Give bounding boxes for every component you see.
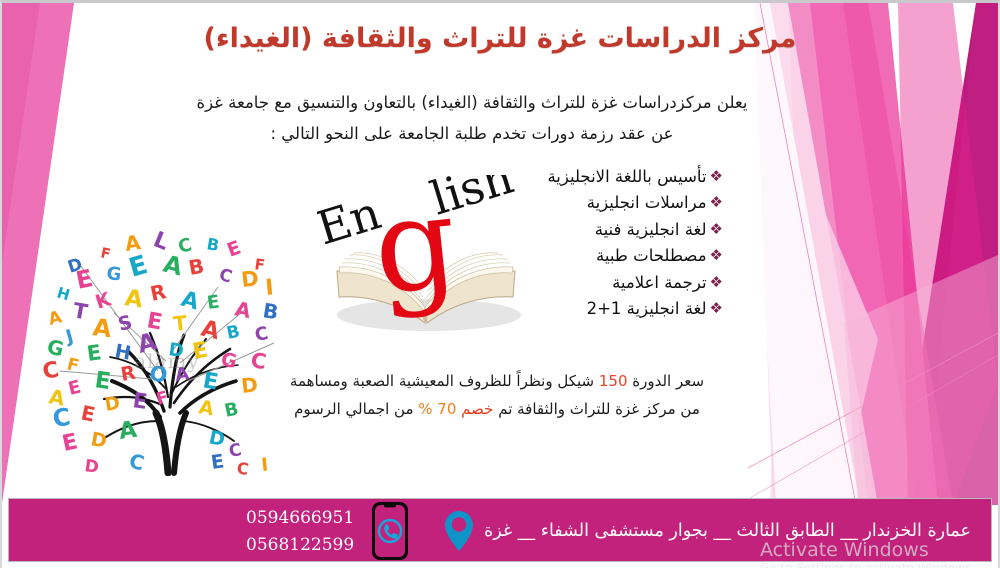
diamond-bullet-icon: ❖ [710,222,723,237]
svg-text:E: E [210,450,226,474]
svg-text:F: F [99,245,112,263]
list-item: ❖ مراسلات انجليزية [293,190,723,217]
smartphone-call-icon-svg [370,500,410,562]
svg-text:T: T [71,298,90,324]
phone-number-primary: 0594666951 [246,508,354,528]
svg-text:E: E [126,250,151,284]
list-item: ❖ لغة انجليزية فنية [293,216,723,243]
phone-numbers: 0594666951 0568122599 [246,508,354,555]
svg-text:D: D [207,426,227,451]
course-label: مصطلحات طبية [596,246,707,265]
svg-text:D: D [89,428,108,452]
course-label: تأسيس باللغة الانجليزية [547,167,706,186]
svg-text:E: E [66,377,83,400]
svg-text:D: D [103,393,121,416]
price-line-2: من مركز غزة للتراث والثقافة تم خصم 70 % … [232,395,762,423]
page-title: مركز الدراسات غزة للتراث والثقافة (الغيد… [2,23,998,54]
svg-text:A: A [123,285,144,313]
svg-text:A: A [161,250,186,282]
diamond-bullet-icon: ❖ [710,301,723,316]
list-item: ❖ ترجمة اعلامية [293,269,723,296]
list-item: ❖ لغة انجليزية 1+2 [293,296,723,323]
alphabet-tree-illustration: D F A L C B E F I H E G E A B C D B A T [40,221,290,476]
intro-paragraph: يعلن مركزدراسات غزة للتراث والثقافة (الغ… [152,87,792,149]
svg-text:E: E [73,264,95,295]
course-label: مراسلات انجليزية [587,193,707,212]
svg-text:G: G [105,263,122,285]
svg-text:C: C [41,357,61,384]
svg-text:B: B [261,298,280,324]
course-label: ترجمة اعلامية [612,273,706,292]
address-row: عمارة الخزندار __ الطابق الثالث __ بجوار… [444,499,971,563]
poster-canvas: مركز الدراسات غزة للتراث والثقافة (الغيد… [0,0,1000,568]
address-text: عمارة الخزندار __ الطابق الثالث __ بجوار… [484,521,971,541]
svg-text:B: B [187,254,206,280]
svg-text:C: C [51,403,72,433]
diamond-bullet-icon: ❖ [710,195,723,210]
price-line2-suffix: من اجمالي الرسوم [294,400,418,418]
list-item: ❖ تأسيس باللغة الانجليزية [293,163,723,190]
diamond-bullet-icon: ❖ [710,275,723,290]
svg-text:E: E [131,388,149,414]
svg-text:B: B [205,234,220,255]
diamond-bullet-icon: ❖ [710,169,723,184]
list-item: ❖ مصطلحات طبية [293,243,723,270]
svg-text:I: I [264,275,274,301]
price-line-1: سعر الدورة 150 شيكل ونظراً للظروف المعيش… [232,367,762,395]
right-pink-polygon-decoration [748,3,998,505]
price-line1-prefix: سعر الدورة [628,372,705,390]
svg-text:E: E [79,400,97,426]
svg-text:C: C [216,265,234,288]
smartphone-call-icon [370,500,410,562]
svg-text:E: E [60,429,80,457]
svg-text:E: E [224,237,244,262]
svg-text:R: R [148,279,168,306]
svg-text:F: F [154,388,170,410]
price-line2-prefix: من مركز غزة للتراث والثقافة تم [493,400,699,418]
map-pin-icon [444,510,474,552]
svg-text:A: A [233,296,254,323]
discount-word: خصم [461,400,493,418]
price-line1-suffix: شيكل ونظراً للظروف المعيشية الصعبة ومساه… [290,372,599,390]
course-list: ❖ تأسيس باللغة الانجليزية ❖ مراسلات انجل… [293,163,723,322]
map-pin-icon-svg [444,510,474,552]
svg-text:H: H [55,284,72,305]
phone-block: 0594666951 0568122599 [246,499,410,563]
svg-text:T: T [172,311,188,336]
intro-line-1: يعلن مركزدراسات غزة للتراث والثقافة (الغ… [152,87,792,118]
phone-number-secondary: 0568122599 [246,535,354,555]
svg-text:S: S [116,311,135,336]
price-paragraph: سعر الدورة 150 شيكل ونظراً للظروف المعيش… [232,367,762,423]
course-price-value: 150 [599,372,628,390]
svg-text:A: A [46,307,64,330]
diamond-bullet-icon: ❖ [710,248,723,263]
svg-text:B: B [225,322,242,344]
svg-text:D: D [83,456,100,476]
svg-text:D: D [240,266,260,292]
contact-footer-bar: عمارة الخزندار __ الطابق الثالث __ بجوار… [8,498,992,562]
svg-text:C: C [253,323,270,346]
svg-text:A: A [91,313,113,343]
intro-line-2: عن عقد رزمة دورات تخدم طلبة الجامعة على … [152,118,792,149]
svg-text:A: A [197,396,216,420]
svg-text:C: C [235,458,250,476]
discount-percent-value: 70 % [418,400,461,418]
svg-text:I: I [260,454,269,476]
course-label: لغة انجليزية فنية [595,220,707,239]
svg-text:E: E [206,291,221,314]
course-label: لغة انجليزية 1+2 [587,299,707,318]
svg-text:A: A [117,417,138,445]
svg-text:C: C [127,449,147,476]
svg-text:K: K [93,288,115,314]
